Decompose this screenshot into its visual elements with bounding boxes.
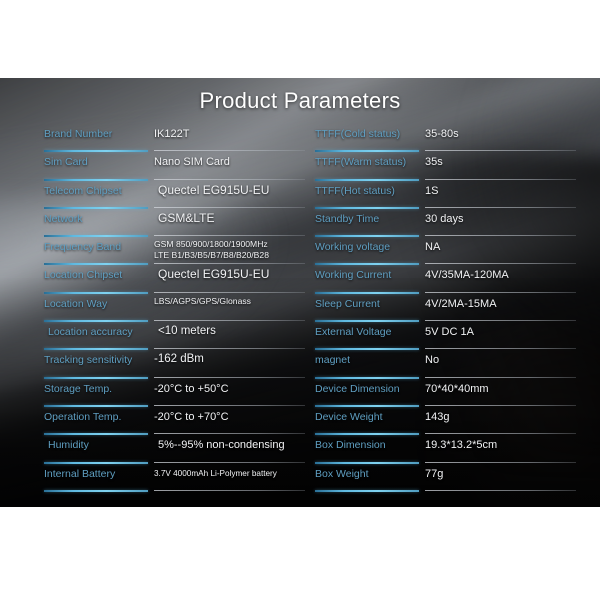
spec-row: TTFF(Warm status)35s — [315, 152, 560, 180]
value-underline — [154, 377, 305, 378]
spec-label: Operation Temp. — [44, 407, 148, 424]
spec-value: Quectel EG915U-EU — [148, 181, 289, 197]
spec-row: Humidity5%--95% non-condensing — [44, 435, 289, 463]
spec-label: magnet — [315, 350, 419, 367]
spec-value: -162 dBm — [148, 350, 289, 366]
spec-value: 35-80s — [419, 124, 560, 141]
spec-row: Internal Battery3.7V 4000mAh Li-Polymer … — [44, 464, 289, 492]
value-underline — [425, 490, 576, 491]
value-underline — [425, 263, 576, 264]
spec-row: Operation Temp.-20°C to +70°C — [44, 407, 289, 435]
page-title: Product Parameters — [0, 88, 600, 114]
value-underline — [425, 235, 576, 236]
spec-row: Telecom ChipsetQuectel EG915U-EU — [44, 181, 289, 209]
spec-row: Sleep Current4V/2MA-15MA — [315, 294, 560, 322]
product-parameters-page: Product Parameters Brand NumberIK122TSim… — [0, 0, 600, 600]
value-underline — [425, 207, 576, 208]
value-underline — [425, 433, 576, 434]
spec-label: Location accuracy — [44, 322, 152, 339]
spec-label: Brand Number — [44, 124, 148, 141]
spec-label: Box Dimension — [315, 435, 419, 452]
spec-label: Internal Battery — [44, 464, 148, 481]
spec-label: Location Way — [44, 294, 148, 311]
spec-row: External Voltage5V DC 1A — [315, 322, 560, 350]
spec-value: <10 meters — [152, 322, 289, 338]
spec-label: Frequency Band — [44, 237, 148, 254]
spec-row: Brand NumberIK122T — [44, 124, 289, 152]
spec-label: TTFF(Cold status) — [315, 124, 419, 141]
value-underline — [154, 490, 305, 491]
spec-value: 143g — [419, 407, 560, 424]
value-underline — [154, 263, 305, 264]
spec-label: Working Current — [315, 265, 419, 282]
spec-value: -20°C to +50°C — [148, 379, 289, 396]
spec-label: Location Chipset — [44, 265, 148, 282]
spec-value: -20°C to +70°C — [148, 407, 289, 424]
label-underline — [44, 490, 148, 492]
value-underline — [425, 292, 576, 293]
spec-column-right: TTFF(Cold status)35-80sTTFF(Warm status)… — [315, 124, 560, 492]
spec-row: Box Dimension19.3*13.2*5cm — [315, 435, 560, 463]
spec-row: Location ChipsetQuectel EG915U-EU — [44, 265, 289, 293]
value-underline — [154, 433, 305, 434]
spec-value: 5V DC 1A — [419, 322, 560, 339]
spec-row: Device Dimension70*40*40mm — [315, 379, 560, 407]
value-underline — [425, 462, 576, 463]
spec-value: Quectel EG915U-EU — [148, 265, 289, 281]
spec-label: External Voltage — [315, 322, 419, 339]
value-underline — [154, 207, 305, 208]
spec-value: Nano SIM Card — [148, 152, 289, 169]
spec-value: 35s — [419, 152, 560, 169]
spec-label: Device Dimension — [315, 379, 419, 396]
spec-label: TTFF(Hot status) — [315, 181, 419, 198]
value-underline — [425, 179, 576, 180]
spec-value: 4V/2MA-15MA — [419, 294, 560, 311]
spec-row: NetworkGSM&LTE — [44, 209, 289, 237]
spec-row: magnetNo — [315, 350, 560, 378]
label-underline — [315, 490, 419, 492]
spec-row: Frequency BandGSM 850/900/1800/1900MHzLT… — [44, 237, 289, 265]
spec-row: TTFF(Hot status)1S — [315, 181, 560, 209]
value-underline — [154, 320, 305, 321]
spec-row: Sim CardNano SIM Card — [44, 152, 289, 180]
value-underline — [154, 292, 305, 293]
value-underline — [154, 348, 305, 349]
value-underline — [425, 320, 576, 321]
spec-value: GSM 850/900/1800/1900MHzLTE B1/B3/B5/B7/… — [148, 237, 289, 260]
spec-label: Network — [44, 209, 148, 226]
spec-label: Tracking sensitivity — [44, 350, 148, 367]
spec-row: TTFF(Cold status)35-80s — [315, 124, 560, 152]
spec-value: NA — [419, 237, 560, 254]
spec-value: 4V/35MA-120MA — [419, 265, 560, 282]
spec-value: 77g — [419, 464, 560, 481]
spec-label: Standby Time — [315, 209, 419, 226]
spec-value: IK122T — [148, 124, 289, 141]
spec-value: 19.3*13.2*5cm — [419, 435, 560, 452]
spec-label: Sim Card — [44, 152, 148, 169]
spec-row: Device Weight143g — [315, 407, 560, 435]
value-underline — [154, 235, 305, 236]
spec-row: Tracking sensitivity-162 dBm — [44, 350, 289, 378]
value-underline — [425, 405, 576, 406]
spec-value: 30 days — [419, 209, 560, 226]
value-underline — [154, 179, 305, 180]
spec-label: Sleep Current — [315, 294, 419, 311]
value-underline — [425, 150, 576, 151]
spec-label: Box Weight — [315, 464, 419, 481]
spec-value: No — [419, 350, 560, 367]
spec-label: Humidity — [44, 435, 152, 452]
spec-value: 70*40*40mm — [419, 379, 560, 396]
spec-label: Telecom Chipset — [44, 181, 148, 198]
spec-row: Standby Time30 days — [315, 209, 560, 237]
spec-value: GSM&LTE — [148, 209, 289, 225]
value-underline — [154, 405, 305, 406]
value-underline — [154, 462, 305, 463]
spec-row: Working Current4V/35MA-120MA — [315, 265, 560, 293]
spec-row: Box Weight77g — [315, 464, 560, 492]
spec-row: Location WayLBS/AGPS/GPS/Glonass — [44, 294, 289, 322]
spec-label: TTFF(Warm status) — [315, 152, 419, 169]
spec-label: Working voltage — [315, 237, 419, 254]
spec-value: 3.7V 4000mAh Li-Polymer battery — [148, 464, 289, 479]
value-underline — [425, 348, 576, 349]
spec-value: 1S — [419, 181, 560, 198]
spec-row: Storage Temp.-20°C to +50°C — [44, 379, 289, 407]
spec-row: Working voltageNA — [315, 237, 560, 265]
spec-label: Device Weight — [315, 407, 419, 424]
spec-label: Storage Temp. — [44, 379, 148, 396]
spec-value: 5%--95% non-condensing — [152, 435, 289, 452]
value-underline — [154, 150, 305, 151]
spec-column-left: Brand NumberIK122TSim CardNano SIM CardT… — [44, 124, 289, 492]
value-underline — [425, 377, 576, 378]
spec-value: LBS/AGPS/GPS/Glonass — [148, 294, 289, 307]
spec-row: Location accuracy<10 meters — [44, 322, 289, 350]
